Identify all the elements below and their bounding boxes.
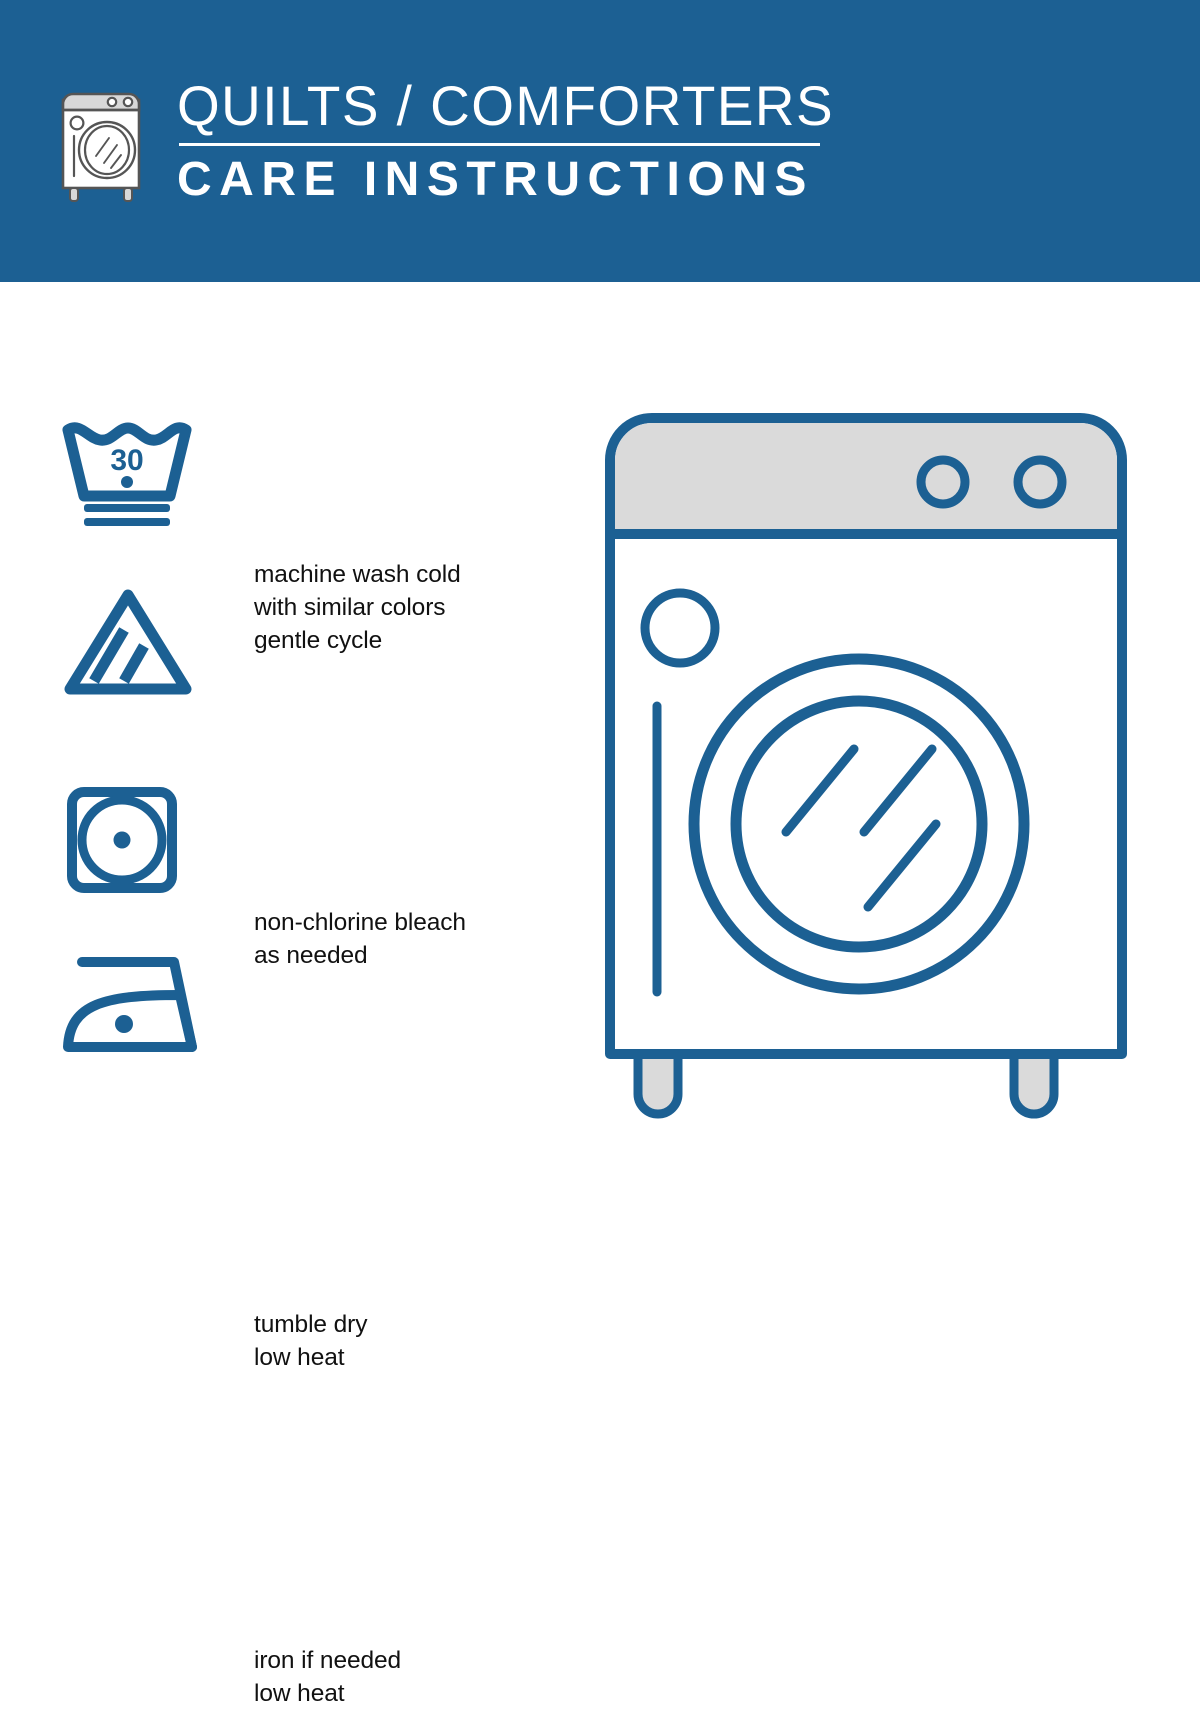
- care-instructions-infographic: QUILTS / COMFORTERS CARE INSTRUCTIONS 30: [0, 0, 1200, 1200]
- care-text-tumble-dry: tumble dry low heat: [254, 1308, 367, 1374]
- knob-left[interactable]: [921, 460, 965, 504]
- bleach-triangle-icon: [62, 585, 194, 702]
- page-title-secondary: CARE INSTRUCTIONS: [177, 153, 847, 207]
- care-text-dry-line-1: tumble dry: [254, 1308, 367, 1341]
- title-block: QUILTS / COMFORTERS CARE INSTRUCTIONS: [177, 75, 847, 207]
- care-text-wash-line-1: machine wash cold: [254, 558, 461, 591]
- care-text-bleach-line-2: as needed: [254, 939, 466, 972]
- knob-right[interactable]: [1018, 460, 1062, 504]
- wash-tub-30-icon: 30: [62, 418, 192, 533]
- care-text-dry-line-2: low heat: [254, 1341, 367, 1374]
- tumble-dry-low-icon: [62, 784, 182, 901]
- iron-low-heat-icon: [62, 952, 202, 1059]
- care-text-iron: iron if needed low heat: [254, 1644, 401, 1710]
- page-title-primary: QUILTS / COMFORTERS: [177, 75, 834, 137]
- care-text-iron-line-2: low heat: [254, 1677, 401, 1710]
- care-text-wash-line-3: gentle cycle: [254, 624, 461, 657]
- status-light: [645, 593, 715, 663]
- care-text-wash: machine wash cold with similar colors ge…: [254, 558, 461, 657]
- care-text-wash-line-2: with similar colors: [254, 591, 461, 624]
- header-content: QUILTS / COMFORTERS CARE INSTRUCTIONS: [55, 78, 847, 210]
- wash-temperature-label: 30: [110, 444, 143, 477]
- title-divider: [179, 143, 820, 146]
- washing-machine-icon: [55, 78, 155, 206]
- care-text-bleach: non-chlorine bleach as needed: [254, 906, 466, 972]
- front-load-washing-machine-illustration: [596, 404, 1136, 1124]
- door-inner-ring: [736, 701, 982, 947]
- header-banner: QUILTS / COMFORTERS CARE INSTRUCTIONS: [0, 0, 1200, 282]
- care-text-iron-line-1: iron if needed: [254, 1644, 401, 1677]
- care-text-bleach-line-1: non-chlorine bleach: [254, 906, 466, 939]
